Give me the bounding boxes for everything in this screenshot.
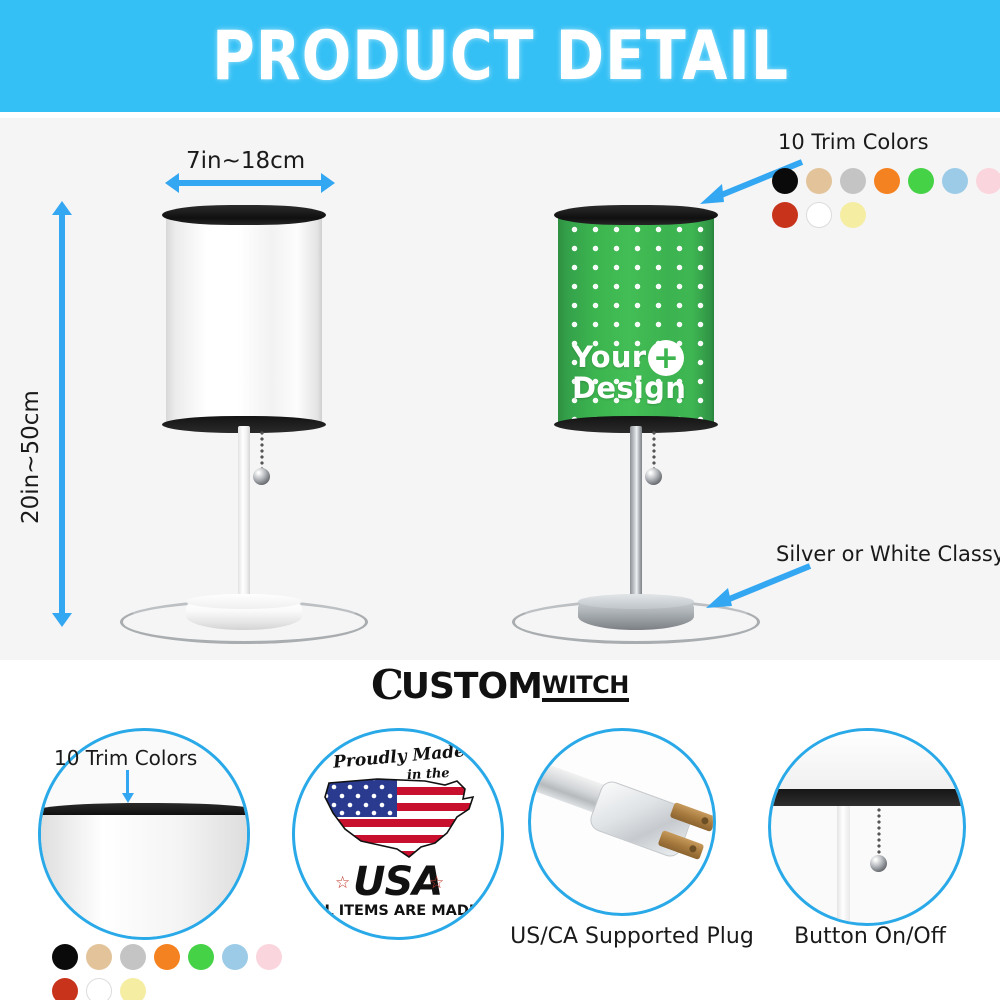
logo-witch-text: WITCH xyxy=(542,673,629,702)
width-dimension-arrow xyxy=(178,180,322,186)
pull-chain xyxy=(652,430,656,472)
base-finish-pointer-arrow xyxy=(698,562,814,608)
usa-star-right: ☆ xyxy=(429,873,444,893)
height-dimension-arrow xyxy=(59,214,65,614)
trim-swatch-pink[interactable] xyxy=(256,944,282,970)
trim-swatch-tan[interactable] xyxy=(806,168,832,194)
panel-switch-caption: Button On/Off xyxy=(772,924,968,949)
feature-panels: 10 Trim Colors Proudly Made in the xyxy=(0,712,1000,1000)
panel-switch xyxy=(768,728,966,926)
usa-star-left: ☆ xyxy=(335,873,350,893)
base-top-face xyxy=(578,594,694,609)
switch-pull-chain xyxy=(877,807,881,859)
trim-closeup-shade xyxy=(38,815,250,940)
trim-swatch-yellow[interactable] xyxy=(120,978,146,1000)
trim-top-black xyxy=(162,205,326,225)
pull-chain-ball xyxy=(253,468,270,485)
switch-trim-band xyxy=(768,789,966,806)
trim-pointer-arrow xyxy=(126,770,129,794)
trim-swatch-tan[interactable] xyxy=(86,944,112,970)
trim-swatch-orange[interactable] xyxy=(154,944,180,970)
trim-swatch-red[interactable] xyxy=(772,202,798,228)
design-line-2: Design xyxy=(572,373,686,404)
trim-colors-label: 10 Trim Colors xyxy=(778,130,929,154)
trim-swatch-white[interactable] xyxy=(806,202,832,228)
usa-map-flag-icon xyxy=(317,771,487,863)
prong-hole xyxy=(700,816,709,825)
prong-hole xyxy=(688,844,697,853)
trim-swatch-orange[interactable] xyxy=(874,168,900,194)
trim-swatch-green[interactable] xyxy=(908,168,934,194)
page-title: PRODUCT DETAIL xyxy=(212,17,789,96)
base-top-face xyxy=(186,594,302,609)
logo-custom-text: USTOM xyxy=(401,670,542,704)
pull-chain-ball xyxy=(645,468,662,485)
brand-logo: C USTOM WITCH xyxy=(0,660,1000,710)
trim-swatch-light-blue[interactable] xyxy=(942,168,968,194)
switch-pull-chain-ball[interactable] xyxy=(870,855,887,872)
lampshade-white xyxy=(166,214,322,426)
lampshade-surface xyxy=(166,214,322,426)
switch-shade-above xyxy=(771,731,966,793)
header-banner: PRODUCT DETAIL xyxy=(0,0,1000,112)
lamp-pole-white xyxy=(238,426,250,614)
lampshade-green: Your Design + xyxy=(558,214,714,426)
trim-swatch-yellow[interactable] xyxy=(840,202,866,228)
trim-color-palette-bottom xyxy=(52,944,282,1000)
panel-plug xyxy=(528,728,716,916)
lamp-base-white xyxy=(186,594,302,630)
trim-swatch-gray[interactable] xyxy=(840,168,866,194)
panel-made-in-usa: Proudly Made in the xyxy=(292,728,504,940)
trim-color-palette-top xyxy=(772,168,1000,228)
trim-swatch-white[interactable] xyxy=(86,978,112,1000)
trim-swatch-pink[interactable] xyxy=(976,168,1000,194)
panel-plug-caption: US/CA Supported Plug xyxy=(504,924,760,949)
height-dimension-label: 20in~50cm xyxy=(18,390,44,524)
trim-swatch-black[interactable] xyxy=(52,944,78,970)
add-design-plus-icon[interactable]: + xyxy=(648,340,684,376)
pull-chain xyxy=(260,430,264,472)
trim-swatch-green[interactable] xyxy=(188,944,214,970)
lamp-pole-silver xyxy=(630,426,642,614)
trim-swatch-red[interactable] xyxy=(52,978,78,1000)
trim-top-black xyxy=(554,205,718,225)
trim-swatch-light-blue[interactable] xyxy=(222,944,248,970)
lampshade-surface: Your Design + xyxy=(558,214,714,426)
lamp-base-silver xyxy=(578,594,694,630)
logo-c-glyph: C xyxy=(371,666,401,705)
width-dimension-label: 7in~18cm xyxy=(186,148,305,174)
product-detail-infographic: PRODUCT DETAIL 7in~18cm 20in~50cm xyxy=(0,0,1000,1000)
trim-swatch-black[interactable] xyxy=(772,168,798,194)
switch-pole xyxy=(837,806,850,926)
trim-swatch-gray[interactable] xyxy=(120,944,146,970)
panel-trim-caption: 10 Trim Colors xyxy=(54,746,197,770)
usa-subtitle: ALL ITEMS ARE MADE TO ORDER! xyxy=(304,903,504,919)
